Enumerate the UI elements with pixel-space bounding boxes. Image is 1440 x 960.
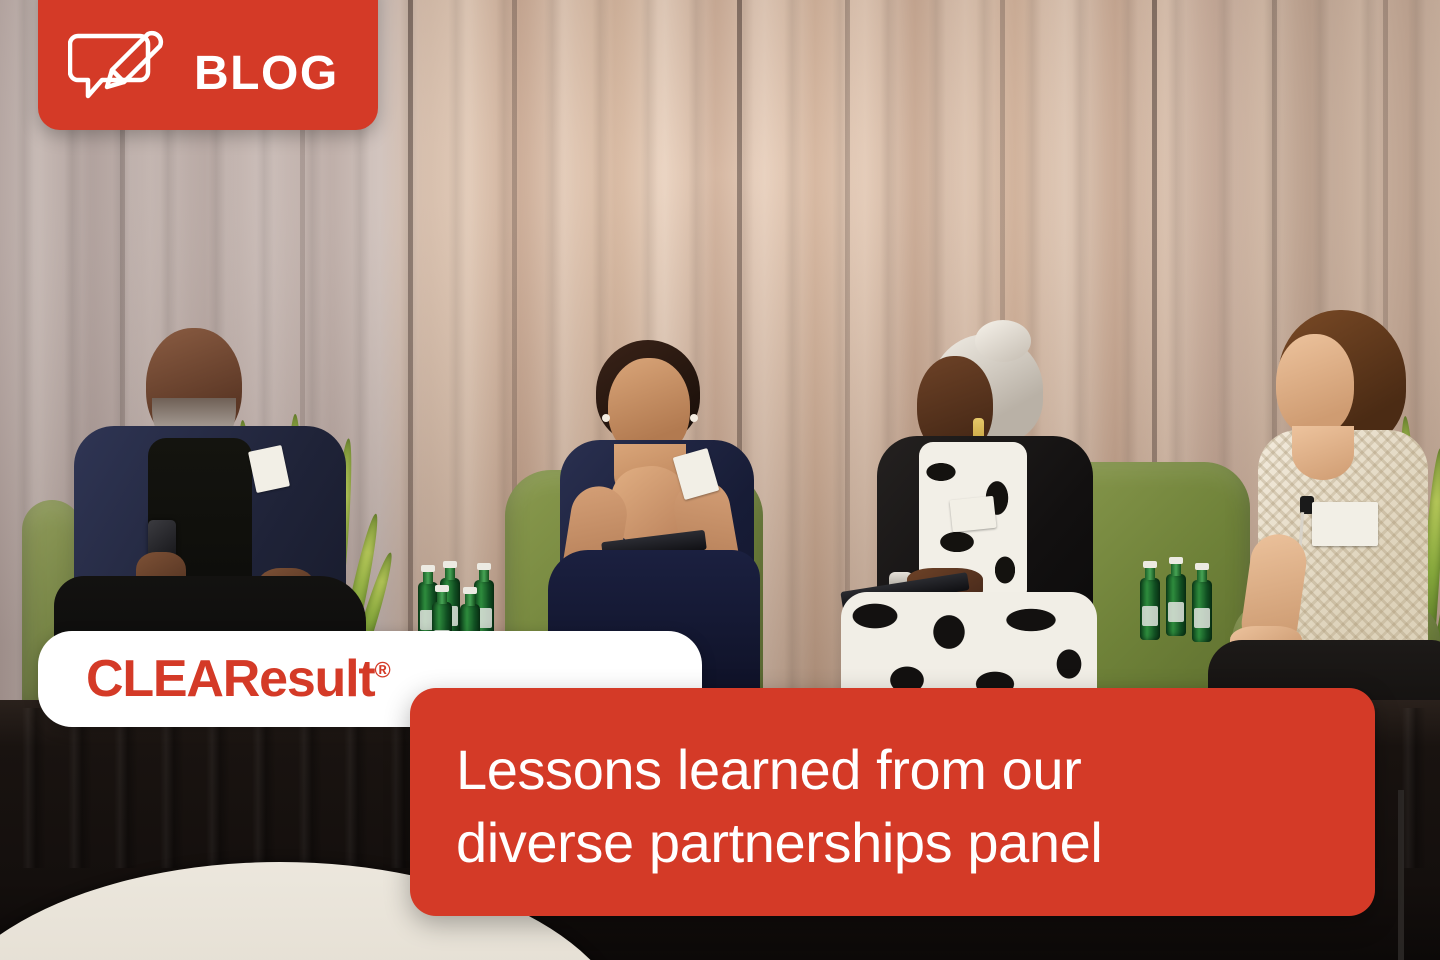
water-bottles-right	[1140, 568, 1230, 658]
clearesult-logo: CLEAResult®	[86, 653, 391, 705]
panelist-4-name-badge	[1312, 502, 1378, 546]
registered-trademark-icon: ®	[374, 658, 390, 683]
water-bottle	[1192, 580, 1212, 642]
water-bottle	[1140, 578, 1160, 640]
blog-hero-card: BLOG CLEAResult® Lessons learned from ou…	[0, 0, 1440, 960]
blog-pencil-speech-bubble-icon	[68, 24, 172, 104]
blog-badge-label: BLOG	[194, 50, 339, 104]
water-bottle	[1166, 574, 1186, 636]
panelist-3	[855, 330, 1115, 710]
bottle-label	[1168, 602, 1184, 622]
bottle-label	[1194, 608, 1210, 628]
title-line-1: Lessons learned from our	[456, 734, 1319, 807]
panelist-2-earring-left	[602, 414, 610, 422]
title-line-2: diverse partnerships panel	[456, 807, 1319, 880]
blog-badge[interactable]: BLOG	[38, 0, 378, 130]
panelist-3-hair-bun	[975, 320, 1031, 362]
panelist-4-head	[1276, 334, 1354, 436]
microphone-stand	[1398, 790, 1404, 960]
logo-wordmark: CLEAResult	[86, 650, 374, 708]
panelist-4-shoulder-skin	[1292, 426, 1354, 480]
panelist-3-name-badge	[949, 496, 996, 532]
bottle-label	[1142, 606, 1158, 626]
panelist-4	[1240, 310, 1440, 690]
panelist-2-earring-right	[690, 414, 698, 422]
title-card: Lessons learned from our diverse partner…	[410, 688, 1375, 916]
